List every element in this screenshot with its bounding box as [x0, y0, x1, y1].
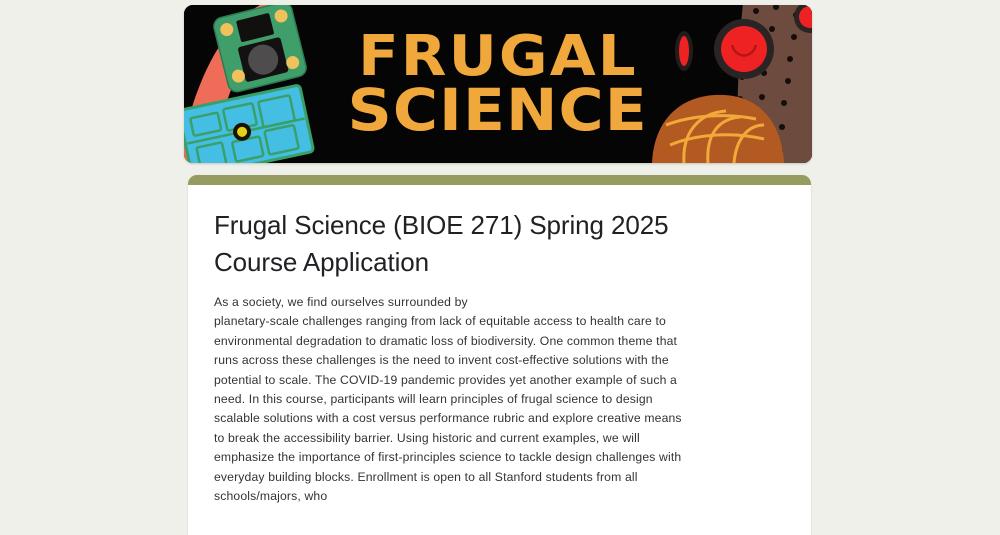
form-title: Frugal Science (BIOE 271) Spring 2025 Co…	[214, 207, 754, 281]
form-accent-bar	[188, 175, 811, 185]
form-description: As a society, we find ourselves surround…	[214, 293, 694, 506]
form-card-body: Frugal Science (BIOE 271) Spring 2025 Co…	[188, 185, 811, 506]
form-page: FRUGAL SCIENCE Frugal Science (BIOE 271)…	[0, 0, 1000, 525]
form-card: Frugal Science (BIOE 271) Spring 2025 Co…	[188, 175, 811, 535]
form-header-banner: FRUGAL SCIENCE	[184, 5, 812, 163]
banner-artwork	[184, 5, 812, 163]
